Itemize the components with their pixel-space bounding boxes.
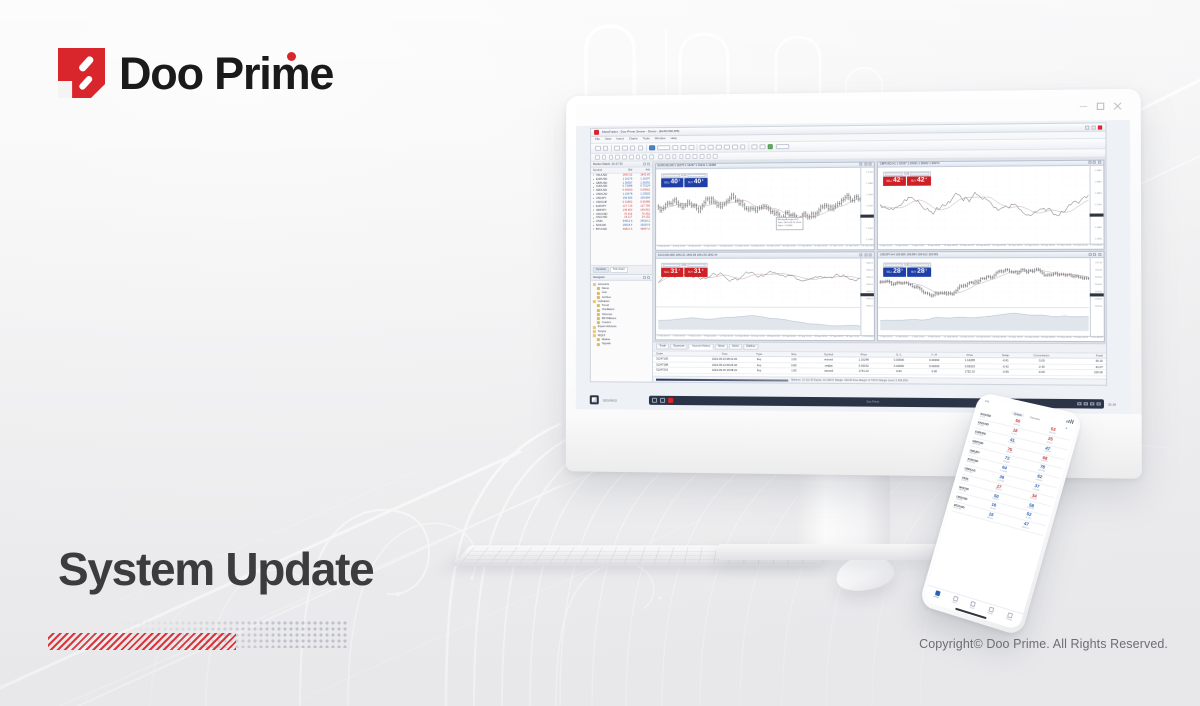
chart-panel-gbpusd[interactable]: GBPUSD,H1 1.36357 1.36391 1.36302 1.3637… (877, 159, 1105, 250)
x-axis-tick: 14 Sep 08:00 (735, 336, 748, 339)
table-cell: buy (742, 369, 777, 373)
y-axis-tick: 1.3800 (1095, 193, 1102, 196)
lot-size-input[interactable] (663, 174, 681, 178)
tile-windows-icon[interactable] (740, 144, 746, 150)
y-axis-tick: 110.20 (1095, 262, 1102, 265)
terminal-tab-mailbox[interactable]: Mailbox (743, 344, 759, 350)
x-axis-tick: 27 Sep 16:00 (1058, 337, 1072, 340)
taskbar-browser-icon[interactable] (660, 398, 665, 403)
table-cell: -6.00 (1023, 371, 1059, 375)
tray-notification-icon[interactable] (1097, 402, 1101, 406)
table-column-header[interactable]: Symbol (811, 353, 846, 357)
lot-size-value: 0.10 (681, 174, 686, 177)
table-column-header[interactable]: Time (707, 352, 741, 356)
x-axis-tick: 12 Sep 00:00 (720, 336, 733, 339)
table-cell: usdjpy (811, 364, 846, 368)
terminal-body: Market Watch: 02:17:33 SymbolBidAsk ▾XAU… (591, 158, 1106, 385)
folder-icon (597, 313, 600, 316)
new-chart-icon[interactable] (603, 145, 608, 151)
trendline-icon[interactable] (609, 155, 614, 160)
period-m15-icon[interactable] (672, 154, 677, 159)
chart-window-buttons[interactable] (859, 163, 871, 166)
table-cell: 0.00 (881, 370, 916, 374)
terminal-bottom-panel: TradeExposureAccount HistoryNewsAlertsMa… (653, 341, 1106, 384)
period-h1-icon[interactable] (686, 154, 691, 159)
market-watch-rows[interactable]: ▾XAUUSD1842.511842.83▴EURUSD1.162751.162… (591, 173, 652, 265)
navigator-item-label: Accounts (598, 283, 609, 286)
chart-y-axis: 1.17001.16801.16601.16401.16201.16001.15… (861, 168, 875, 244)
phone-nav-settings[interactable]: Settings (1005, 612, 1014, 622)
table-cell: 1.16248 (846, 359, 881, 363)
table-cell: 31247105 (656, 358, 707, 362)
chart-maximize-icon[interactable] (1093, 161, 1096, 164)
table-column-header[interactable]: Profit (1059, 354, 1102, 358)
x-axis-tick: 9 Sep 16:00 (704, 246, 716, 249)
one-click-trading-panel[interactable]: 0.20SELL421BUY424 (883, 171, 931, 186)
x-axis-tick: 7 Sep 16:00 (912, 336, 924, 339)
y-axis-tick: 1.1680 (866, 183, 873, 186)
navigator-item-label: MQL5 (598, 334, 605, 337)
table-cell: 2021.09.14 09:23:42 (707, 363, 741, 367)
buy-price-fraction: 9 (925, 268, 927, 271)
zoom-out-icon[interactable] (708, 144, 714, 150)
sell-button[interactable]: SELL286 (883, 267, 906, 276)
chart-panel-xauusd[interactable]: XAUUSD,M30 1842.51 1842.83 1841.06 1842.… (655, 252, 876, 341)
x-axis-tick: 22 Sep 00:00 (1025, 245, 1039, 248)
new-order-icon[interactable] (595, 146, 600, 152)
sell-price-fraction: 1 (901, 178, 903, 181)
market-watch-window-buttons[interactable] (643, 162, 651, 165)
table-cell: 1.16285 (952, 359, 988, 363)
y-axis-tick: 1.1600 (866, 228, 873, 231)
x-axis-tick: 6 Sep 16:00 (673, 246, 685, 249)
expert-icon[interactable] (760, 144, 766, 150)
y-axis-tick: 1850.0 (866, 277, 873, 280)
lot-size-input[interactable] (663, 263, 681, 266)
chart-tooltip-line: Value: 1.16281 (778, 225, 802, 228)
buy-button[interactable]: BUY319 (684, 268, 707, 277)
phone-nav-history[interactable]: History (987, 606, 995, 615)
sell-button[interactable]: SELL405 (661, 178, 684, 187)
x-axis-tick: 20 Sep 00:00 (814, 246, 827, 249)
table-cell: -0.42 (988, 365, 1024, 369)
x-axis-tick: 21 Sep 12:00 (830, 246, 843, 249)
terminal-title: MetaTrader - Doo Prime Server - Demo - [… (602, 130, 679, 135)
y-axis-tick: 1835.0 (866, 298, 873, 301)
chart-x-axis: 2 Sep 00:005 Sep 08:007 Sep 16:009 Sep 0… (878, 335, 1103, 341)
chart-window-buttons[interactable] (1088, 161, 1101, 164)
table-column-header[interactable]: S / L (881, 353, 916, 357)
terminal-history-table[interactable]: OrderTimeTypeSizeSymbolPriceS / LT / PPr… (653, 351, 1106, 378)
menu-item-file[interactable]: File (595, 138, 600, 142)
market-watch-tabs[interactable]: SymbolsTick Chart (591, 265, 652, 274)
terminal-tab-alerts[interactable]: Alerts (729, 344, 742, 350)
table-cell: -3.00 (1023, 359, 1059, 363)
x-axis-tick: 2 Sep 00:00 (880, 246, 892, 249)
chart-maximize-icon[interactable] (864, 163, 867, 166)
table-cell: 0.80 (776, 364, 811, 368)
table-cell: 0.00000 (881, 359, 916, 363)
x-axis-tick: 24 Sep 08:00 (1041, 337, 1055, 340)
sell-button[interactable]: SELL421 (883, 177, 906, 186)
table-cell: 0.00000 (917, 359, 952, 363)
period-m30-icon[interactable] (679, 154, 684, 159)
terminal-tab-account-history[interactable]: Account History (689, 344, 714, 350)
table-cell: 41.07 (1059, 365, 1102, 369)
maximize-icon[interactable] (1097, 103, 1105, 110)
terminal-tab-trade[interactable]: Trade (656, 343, 669, 349)
chart-maximize-icon[interactable] (1093, 253, 1096, 256)
chart-minimize-icon[interactable] (860, 253, 863, 256)
y-axis-tick: 1.1700 (866, 172, 873, 175)
one-click-trading-panel[interactable]: 0.30SELL286BUY289 (883, 262, 931, 276)
market-watch-tab[interactable]: Tick Chart (610, 267, 628, 273)
terminal-left-dock: Market Watch: 02:17:33 SymbolBidAsk ▾XAU… (591, 161, 653, 381)
menu-item-view[interactable]: View (605, 138, 611, 142)
x-axis-tick: 27 Sep 08:00 (830, 336, 843, 339)
line-chart-icon[interactable] (689, 145, 695, 151)
crosshair-icon[interactable] (602, 155, 607, 160)
x-axis-tick: 14 Sep 16:00 (960, 337, 974, 340)
x-axis-tick: 20 Sep 08:00 (782, 336, 795, 339)
market-watch-close-icon[interactable] (647, 162, 650, 165)
period-d1-icon[interactable] (699, 154, 704, 159)
menu-item-charts[interactable]: Charts (629, 138, 638, 142)
chart-canvas[interactable]: 0.10SELL405BUY408Moving Average (14)Time… (656, 168, 874, 245)
chart-shift-icon[interactable] (724, 144, 730, 150)
monitor-stand-neck (798, 466, 890, 552)
market-watch-column-header[interactable]: Ask (632, 168, 650, 172)
terminal-maximize-icon[interactable] (1091, 125, 1095, 129)
phone-nav-charts[interactable]: Charts (951, 596, 958, 605)
spread-field (687, 174, 705, 178)
y-axis-tick: 1830.0 (866, 305, 873, 308)
navigator-item[interactable]: Signals (593, 342, 650, 347)
navigator-item-label: Live (602, 291, 607, 294)
table-cell: 0.93152 (846, 364, 881, 368)
chart-minimize-icon[interactable] (1088, 253, 1091, 256)
period-m5-icon[interactable] (665, 154, 670, 159)
table-cell: 2021.09.13 08:41:26 (707, 358, 741, 362)
chart-canvas[interactable]: 0.20SELL421BUY4241.38801.38401.38001.376… (878, 166, 1103, 244)
table-cell: 100.00 (1059, 371, 1102, 375)
window-controls[interactable] (1080, 102, 1122, 110)
template-icon[interactable] (752, 144, 758, 150)
y-axis-tick: 1.3880 (1095, 170, 1102, 173)
lot-size-input[interactable] (885, 172, 903, 176)
minimize-icon[interactable] (1080, 103, 1087, 110)
current-price-marker (1089, 293, 1103, 296)
table-cell: 2021.09.15 10:08:22 (707, 369, 741, 373)
chart-window-buttons[interactable] (860, 253, 872, 256)
one-click-trading-panel[interactable]: 0.10SELL405BUY408 (661, 173, 707, 187)
one-click-buttons[interactable]: SELL405BUY408 (661, 178, 707, 187)
market-watch-row[interactable]: ▾BTCUSD46821.546847.0 (591, 228, 652, 232)
autoscroll-icon[interactable] (716, 144, 722, 150)
toolbar-separator (646, 144, 647, 151)
bar-chart-icon[interactable] (673, 145, 679, 151)
menu-item-help[interactable]: Help (671, 137, 677, 141)
data-window-icon[interactable] (630, 145, 636, 151)
doo-prime-mark-icon (58, 48, 105, 98)
table-column-header[interactable]: Swap (988, 354, 1024, 358)
x-axis-tick: 14 Sep 16:00 (960, 245, 974, 248)
x-axis-tick: 15 Sep 12:00 (767, 246, 780, 249)
x-axis-tick: 16 Sep 00:00 (976, 245, 990, 248)
menu-item-insert[interactable]: Insert (616, 138, 624, 142)
terminal-app-icon (594, 130, 599, 135)
buy-price: 42 (917, 178, 924, 185)
taskbar-clock: 02:18 (1108, 402, 1116, 406)
sell-label: SELL (664, 181, 670, 184)
table-column-header[interactable]: Price (846, 353, 881, 357)
spread-field (910, 263, 928, 266)
buy-button[interactable]: BUY408 (684, 178, 707, 187)
terminal-status-text: Balance: 10 121.50 Equity: 10 198.67 Mar… (791, 378, 908, 382)
one-click-trading-panel[interactable]: 0.50SELL317BUY319 (661, 263, 708, 277)
toolbar-separator (611, 145, 612, 152)
y-axis-tick: 1.3640 (1095, 238, 1102, 241)
one-click-buttons[interactable]: SELL421BUY424 (883, 176, 931, 186)
tray-battery-icon[interactable] (1090, 402, 1094, 406)
search-input[interactable] (776, 144, 789, 150)
terminal-close-icon[interactable] (1098, 125, 1102, 129)
y-axis-tick: 1.3760 (1095, 204, 1102, 207)
navigator-float-icon[interactable] (642, 276, 645, 279)
chart-x-axis: 2 Sep 00:005 Sep 08:007 Sep 12:009 Sep 0… (656, 334, 875, 340)
help-icon[interactable] (768, 144, 774, 150)
taskbar-explorer-icon[interactable] (652, 398, 657, 403)
fibonacci-icon[interactable] (636, 155, 641, 160)
table-column-header[interactable]: Order (656, 352, 707, 356)
table-cell: 0.00000 (917, 364, 952, 368)
navigator-item-label: Archive (602, 296, 611, 299)
chart-close-icon[interactable] (869, 253, 872, 256)
autotrading-icon[interactable] (649, 145, 655, 151)
phone-nav-label: History (987, 612, 993, 616)
buy-price-fraction: 8 (702, 179, 703, 182)
market-watch-tab[interactable]: Symbols (593, 267, 609, 273)
one-click-buttons[interactable]: SELL317BUY319 (661, 268, 708, 277)
navigator-title: Navigator (593, 276, 605, 279)
market-watch-column-header[interactable]: Symbol (593, 168, 615, 172)
taskbar-tray[interactable] (1077, 402, 1100, 406)
chart-maximize-icon[interactable] (864, 253, 867, 256)
decorative-hatch-bar (48, 633, 236, 650)
folder-icon (593, 300, 596, 303)
tray-network-icon[interactable] (1077, 402, 1081, 406)
toolbar-separator (697, 144, 698, 151)
sell-price-fraction: 6 (901, 268, 903, 271)
x-axis-tick: 22 Sep 12:00 (798, 336, 811, 339)
table-cell: xauusd (811, 369, 846, 373)
table-cell: 1.00 (776, 358, 811, 362)
sell-price: 28 (893, 269, 900, 276)
chart-grid: EURUSD,M5 1.16275 1.16297 1.16241 1.1628… (653, 158, 1106, 344)
chart-canvas[interactable]: 0.50SELL317BUY3191860.01855.01850.01845.… (656, 258, 875, 334)
sell-price-fraction: 7 (679, 269, 680, 272)
current-price-marker (861, 215, 874, 218)
symbol-name: BTCUSD (596, 228, 615, 231)
taskbar-dooprime-icon[interactable] (668, 398, 673, 403)
folder-icon (593, 334, 596, 337)
buy-button[interactable]: BUY289 (907, 267, 931, 276)
x-axis-tick: 29 Sep 00:00 (1074, 337, 1088, 340)
chart-panel-eurusd[interactable]: EURUSD,M5 1.16275 1.16297 1.16241 1.1628… (655, 161, 876, 251)
table-cell: eurusd (811, 358, 846, 362)
tray-volume-icon[interactable] (1084, 402, 1088, 406)
sell-button[interactable]: SELL317 (661, 268, 684, 277)
terminal-minimize-icon[interactable] (1085, 125, 1089, 129)
y-axis-tick: 109.60 (1095, 284, 1102, 287)
navigator-icon[interactable] (638, 145, 644, 151)
menu-item-window[interactable]: Window (655, 137, 666, 141)
x-axis-tick: 5 Sep 08:00 (896, 245, 908, 248)
y-axis-tick: 109.80 (1095, 276, 1102, 279)
phone-nav-trade[interactable]: Trade (969, 601, 976, 610)
chart-window-buttons[interactable] (1088, 253, 1101, 256)
market-watch-float-icon[interactable] (643, 162, 646, 165)
x-axis-tick: 29 Sep 00:00 (1074, 245, 1088, 248)
chart-close-icon[interactable] (1098, 253, 1101, 256)
table-column-header[interactable]: Commission (1023, 354, 1059, 358)
x-axis-tick: 20 Sep 16:00 (1008, 245, 1022, 248)
terminal-tab-news[interactable]: News (715, 344, 728, 350)
period-mn-icon[interactable] (713, 154, 718, 159)
copyright-text: Copyright© Doo Prime. All Rights Reserve… (919, 637, 1168, 651)
text-label-icon[interactable] (643, 155, 648, 160)
lot-size-value: 0.20 (904, 172, 909, 175)
folder-icon (597, 292, 600, 295)
zoom-in-icon[interactable] (700, 145, 706, 151)
horizontal-line-icon[interactable] (615, 155, 620, 160)
x-axis-tick: 20 Sep 16:00 (1009, 337, 1023, 340)
x-axis-tick: 2 Sep 00:00 (880, 336, 892, 339)
trading-terminal-window: MetaTrader - Doo Prime Server - Demo - [… (590, 122, 1107, 386)
menu-item-tools[interactable]: Tools (643, 137, 650, 141)
x-axis-tick: 22 Sep 04:00 (846, 246, 859, 249)
x-axis-tick: 1 Oct 08:00 (1090, 337, 1102, 340)
x-axis-tick: 5 Sep 08:00 (673, 335, 685, 338)
y-axis-tick: 1.1580 (866, 239, 873, 242)
current-price-marker (861, 293, 874, 296)
sell-label: SELL (664, 271, 670, 274)
table-cell: 1.50 (776, 369, 811, 373)
phone-nav-label: Charts (951, 601, 957, 604)
navigator-window-buttons[interactable] (642, 276, 650, 279)
table-cell: -0.95 (988, 371, 1024, 375)
table-cell: -2.40 (1023, 365, 1059, 369)
terminal-tab-exposure[interactable]: Exposure (670, 343, 688, 349)
x-axis-tick: 1 Oct 08:00 (1090, 245, 1102, 248)
period-h4-icon[interactable] (693, 154, 698, 159)
period-w1-icon[interactable] (706, 154, 711, 159)
x-axis-tick: 18 Sep 08:00 (992, 337, 1006, 340)
timeframe-select[interactable] (657, 145, 670, 151)
folder-icon (597, 317, 600, 320)
table-column-header[interactable]: Type (742, 352, 777, 356)
table-column-header[interactable]: Price (952, 353, 988, 357)
toolbar-separator (748, 143, 749, 150)
market-watch-column-header[interactable]: Bid (615, 168, 633, 172)
equidistant-channel-icon[interactable] (629, 155, 634, 160)
x-axis-tick: 1 Oct 00:00 (862, 336, 874, 339)
chart-minimize-icon[interactable] (859, 163, 862, 166)
buy-price-fraction: 4 (925, 177, 927, 180)
navigator-item-label: Signals (602, 343, 611, 346)
buy-label: BUY (688, 181, 693, 184)
table-column-header[interactable]: T / P (917, 353, 952, 357)
buy-price: 31 (694, 269, 701, 275)
x-axis-tick: 16 Sep 20:00 (782, 246, 795, 249)
y-axis-tick: 1.1640 (866, 205, 873, 208)
brand-dot-accent (287, 52, 296, 61)
x-axis-tick: 7 Sep 12:00 (689, 336, 701, 339)
table-column-header[interactable]: Size (776, 353, 811, 357)
chart-canvas[interactable]: 0.30SELL286BUY289110.20110.00109.80109.6… (878, 258, 1104, 336)
period-m1-icon[interactable] (658, 154, 663, 159)
x-axis-tick: 12 Sep 08:00 (944, 336, 958, 339)
x-axis-tick: 12 Sep 08:00 (944, 245, 958, 248)
cursor-icon[interactable] (595, 155, 600, 160)
buy-label: BUY (911, 180, 916, 183)
chart-minimize-icon[interactable] (1088, 161, 1091, 164)
bid-price: 46821.5 (615, 228, 633, 231)
x-axis-tick: 7 Sep 16:00 (912, 245, 924, 248)
candle-chart-icon[interactable] (681, 145, 687, 151)
navigator-item-label: Indicators (598, 300, 610, 303)
navigator-item-label: Volumes (602, 313, 612, 316)
chart-panel-usdjpy[interactable]: USDJPY,H4 109.826 109.854 109.612 109.80… (877, 251, 1105, 342)
vertical-line-icon[interactable] (622, 155, 627, 160)
profiles-icon[interactable] (614, 145, 620, 151)
indicators-icon[interactable] (732, 144, 738, 150)
folder-icon (597, 309, 600, 312)
buy-button[interactable]: BUY424 (907, 176, 930, 185)
terminal-window-buttons[interactable] (1085, 125, 1102, 129)
sell-price: 42 (893, 178, 900, 185)
chart-title: USDJPY,H4 109.826 109.854 109.612 109.80… (880, 253, 939, 257)
chart-y-axis: 1860.01855.01850.01845.01840.01835.01830… (861, 258, 875, 334)
start-button-icon[interactable] (590, 395, 599, 404)
lot-size-input[interactable] (885, 263, 903, 266)
x-axis-tick: 10 Sep 04:00 (720, 246, 733, 249)
navigator-close-icon[interactable] (647, 276, 650, 279)
chart-close-icon[interactable] (869, 163, 872, 166)
navigator-tree[interactable]: AccountsDemoLiveArchiveIndicatorsTrendOs… (591, 281, 652, 382)
buy-label: BUY (688, 271, 693, 274)
market-watch-title: Market Watch: 02:17:33 (593, 162, 623, 166)
x-axis-tick: 9 Sep 04:00 (704, 336, 716, 339)
x-axis-tick: 13 Sep 16:00 (735, 246, 748, 249)
phone-nav-label: Quotes (933, 596, 939, 600)
close-icon[interactable] (1114, 102, 1122, 109)
market-watch-icon[interactable] (622, 145, 628, 151)
x-axis-tick: 24 Sep 00:00 (814, 336, 827, 339)
one-click-buttons[interactable]: SELL286BUY289 (883, 267, 931, 276)
navigator-item-label: Oscillators (602, 309, 615, 312)
folder-icon (597, 343, 600, 346)
chart-close-icon[interactable] (1097, 161, 1100, 164)
taskbar-app-title: Doo Prime (867, 400, 880, 403)
table-cell: 1752.10 (952, 370, 988, 374)
chart-title: XAUUSD,M30 1842.51 1842.83 1841.06 1842.… (658, 254, 718, 258)
folder-icon (597, 287, 600, 290)
phone-nav-quotes[interactable]: Quotes (933, 590, 941, 599)
arrow-icon[interactable] (649, 155, 654, 160)
x-axis-tick: 9 Sep 00:00 (928, 336, 940, 339)
table-cell: 36.10 (1059, 360, 1102, 364)
